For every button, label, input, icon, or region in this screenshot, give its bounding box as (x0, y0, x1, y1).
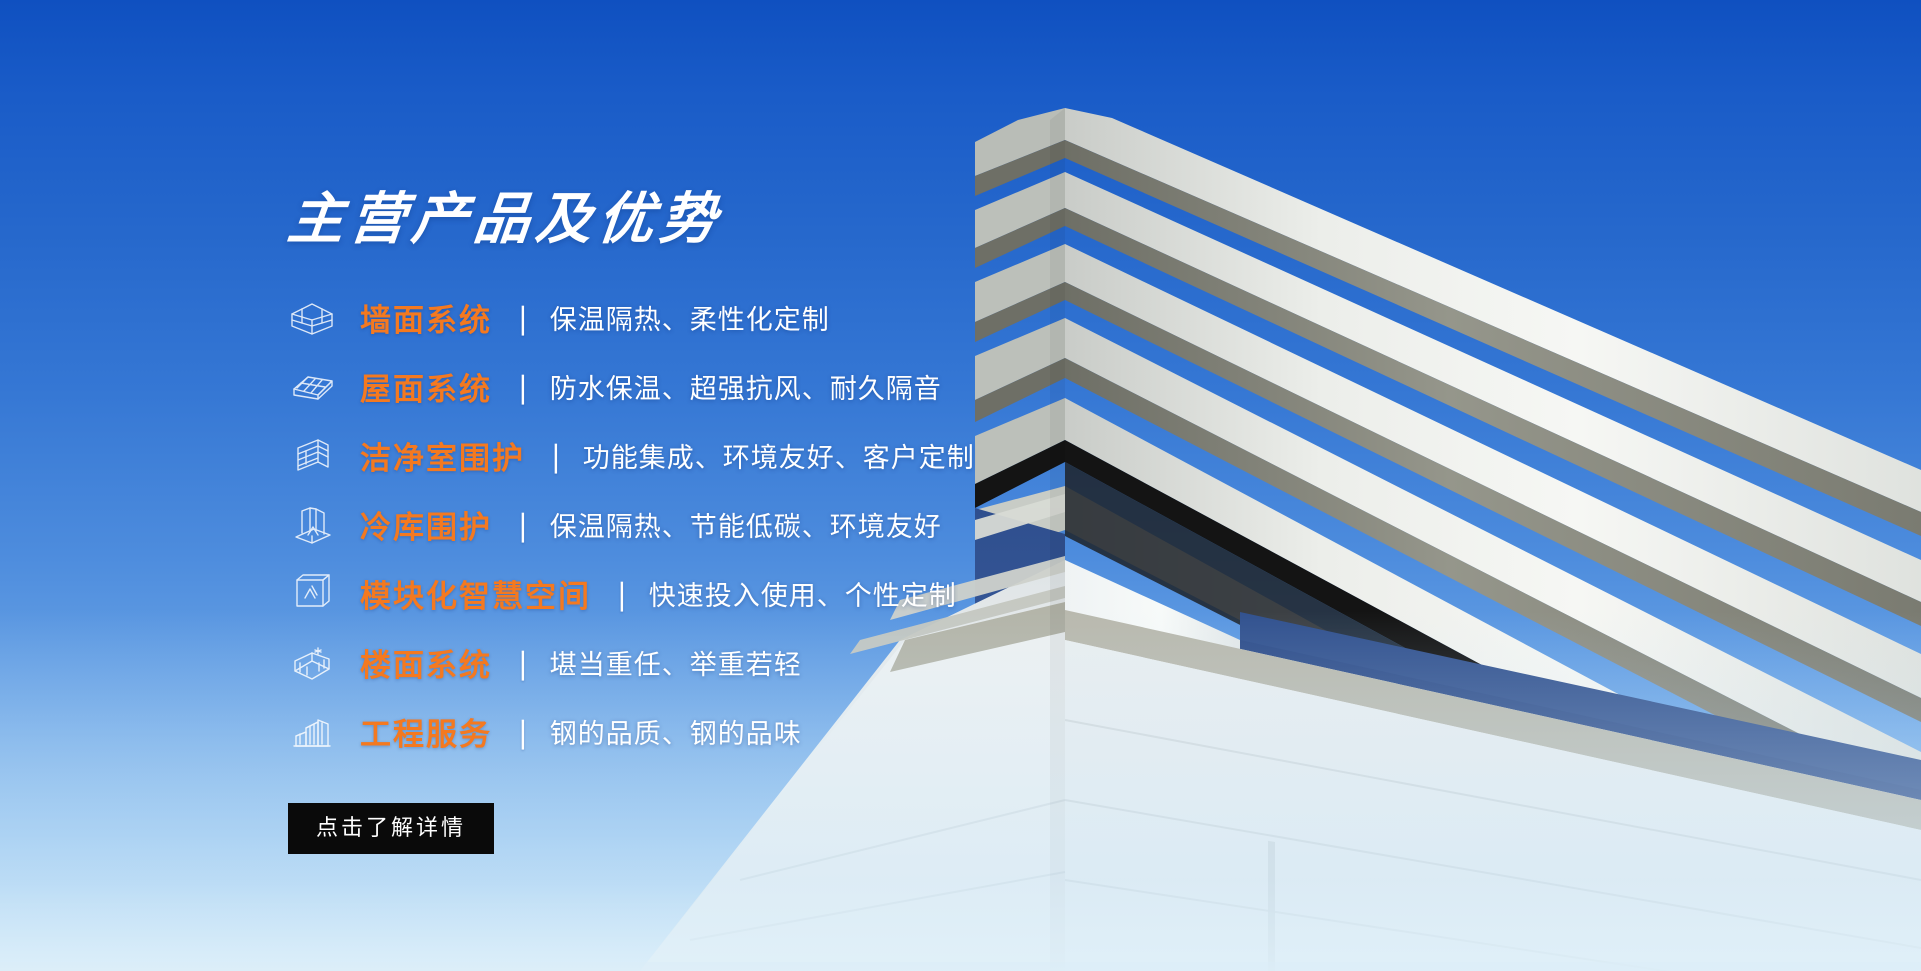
cold-storage-enclosure-icon (288, 503, 336, 547)
feature-row[interactable]: 洁净室围护 ❙ 功能集成、环境友好、客户定制 (288, 424, 1288, 488)
feature-list: 墙面系统 ❙ 保温隔热、柔性化定制 屋面系统 (288, 286, 1288, 764)
feature-desc: 堪当重任、举重若轻 (550, 643, 802, 682)
floor-system-icon (288, 641, 336, 685)
page-title: 主营产品及优势 (285, 188, 1291, 250)
feature-separator: ❙ (517, 717, 529, 747)
product-advantages-banner: 主营产品及优势 墙面系统 ❙ 保温隔热、柔性化定制 (0, 0, 1921, 971)
feature-name: 模块化智慧空间 (360, 571, 591, 616)
engineering-service-icon (288, 710, 336, 754)
feature-desc: 快速投入使用、个性定制 (649, 574, 957, 613)
feature-desc: 保温隔热、节能低碳、环境友好 (550, 505, 942, 544)
feature-desc: 保温隔热、柔性化定制 (550, 298, 830, 337)
feature-row[interactable]: 墙面系统 ❙ 保温隔热、柔性化定制 (288, 286, 1288, 350)
feature-name: 屋面系统 (360, 364, 492, 409)
feature-row[interactable]: 屋面系统 ❙ 防水保温、超强抗风、耐久隔音 (288, 355, 1288, 419)
feature-name: 冷库围护 (360, 502, 492, 547)
feature-row[interactable]: 楼面系统 ❙ 堪当重任、举重若轻 (288, 631, 1288, 695)
feature-name: 楼面系统 (360, 640, 492, 685)
feature-row[interactable]: 工程服务 ❙ 钢的品质、钢的品味 (288, 700, 1288, 764)
banner-content: 主营产品及优势 墙面系统 ❙ 保温隔热、柔性化定制 (288, 188, 1288, 854)
wall-system-icon (288, 296, 336, 340)
feature-name: 洁净室围护 (360, 433, 525, 478)
feature-desc: 功能集成、环境友好、客户定制 (583, 436, 975, 475)
modular-smart-space-icon (288, 572, 336, 616)
feature-row[interactable]: 冷库围护 ❙ 保温隔热、节能低碳、环境友好 (288, 493, 1288, 557)
feature-separator: ❙ (517, 303, 529, 333)
feature-separator: ❙ (517, 510, 529, 540)
feature-separator: ❙ (517, 648, 529, 678)
feature-separator: ❙ (616, 579, 628, 609)
feature-desc: 防水保温、超强抗风、耐久隔音 (550, 367, 942, 406)
learn-more-button[interactable]: 点击了解详情 (288, 803, 494, 854)
roof-system-icon (288, 365, 336, 409)
cleanroom-enclosure-icon (288, 434, 336, 478)
feature-name: 工程服务 (360, 709, 492, 754)
feature-row[interactable]: 模块化智慧空间 ❙ 快速投入使用、个性定制 (288, 562, 1288, 626)
feature-separator: ❙ (517, 372, 529, 402)
feature-separator: ❙ (550, 441, 562, 471)
feature-desc: 钢的品质、钢的品味 (550, 712, 802, 751)
feature-name: 墙面系统 (360, 295, 492, 340)
